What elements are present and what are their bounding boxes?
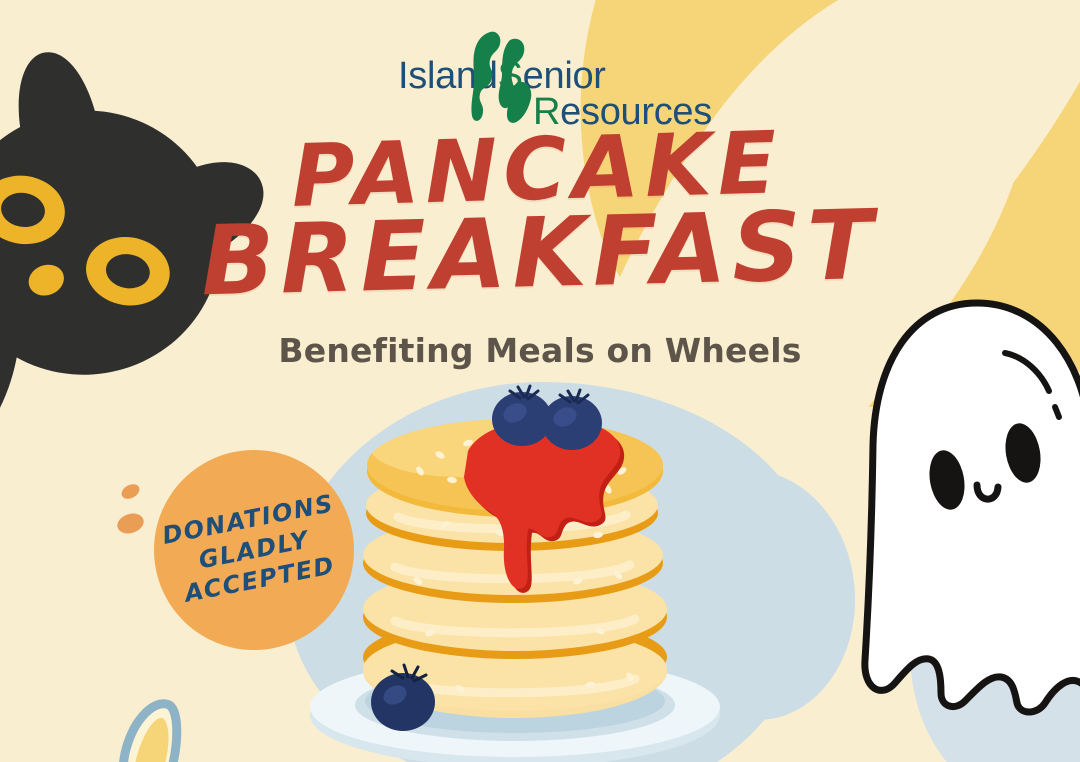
- donations-badge-text: DONATIONS GLADLY ACCEPTED: [160, 488, 349, 612]
- pancake-wedge-icon: [110, 700, 220, 762]
- logo-letter-r: R: [533, 91, 560, 133]
- donations-badge: DONATIONS GLADLY ACCEPTED: [154, 450, 354, 650]
- logo-line-two: Resources: [533, 91, 712, 134]
- whidbey-island-map-icon: [470, 30, 536, 130]
- island-senior-resources-logo[interactable]: IslandSenior Resources: [398, 33, 688, 128]
- subtitle: Benefiting Meals on Wheels: [0, 331, 1080, 370]
- logo-word-esources: esources: [560, 91, 712, 133]
- pancake-stack-icon: [300, 385, 730, 762]
- pancake-breakfast-poster: IslandSenior Resources PANCAKE BREAKFAST…: [0, 0, 1080, 762]
